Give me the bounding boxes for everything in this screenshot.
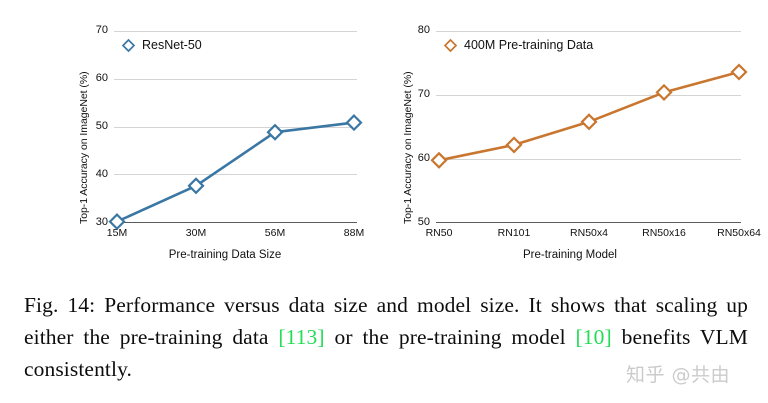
xtick-label-1: 30M [172,228,220,239]
legend-label-400m: 400M Pre-training Data [464,38,593,52]
xtick-label-2: RN50x4 [562,228,616,239]
chart-panel-model-size: 80 70 60 50 Top-1 Accuracy on ImageNet (… [384,0,768,280]
figure-caption: Fig. 14: Performance versus data size an… [24,289,748,385]
legend-right: 400M Pre-training Data [444,38,593,52]
xtick-label-3: RN50x16 [637,228,691,239]
xtick-label-1: RN101 [487,228,541,239]
plot-area-left: 70 60 50 40 30 Top-1 Accuracy on ImageNe… [0,0,384,280]
caption-citation-10[interactable]: [10] [576,325,612,349]
charts-row: 70 60 50 40 30 Top-1 Accuracy on ImageNe… [0,0,768,280]
diamond-marker-icon [444,39,457,52]
plot-area-right: 80 70 60 50 Top-1 Accuracy on ImageNet (… [384,0,768,280]
caption-middle: or the pre-training model [325,325,576,349]
x-axis-title: Pre-training Model [420,249,720,261]
chart-panel-data-size: 70 60 50 40 30 Top-1 Accuracy on ImageNe… [0,0,384,280]
xtick-label-2: 56M [251,228,299,239]
xtick-label-3: 88M [330,228,378,239]
x-axis-title: Pre-training Data Size [96,249,354,261]
xtick-label-4: RN50x64 [712,228,766,239]
diamond-marker-icon [122,39,135,52]
xtick-label-0: RN50 [412,228,466,239]
figure-14: 70 60 50 40 30 Top-1 Accuracy on ImageNe… [0,0,768,403]
caption-citation-113[interactable]: [113] [278,325,324,349]
xtick-label-0: 15M [93,228,141,239]
legend-label-resnet50: ResNet-50 [142,38,202,52]
legend-left: ResNet-50 [122,38,202,52]
